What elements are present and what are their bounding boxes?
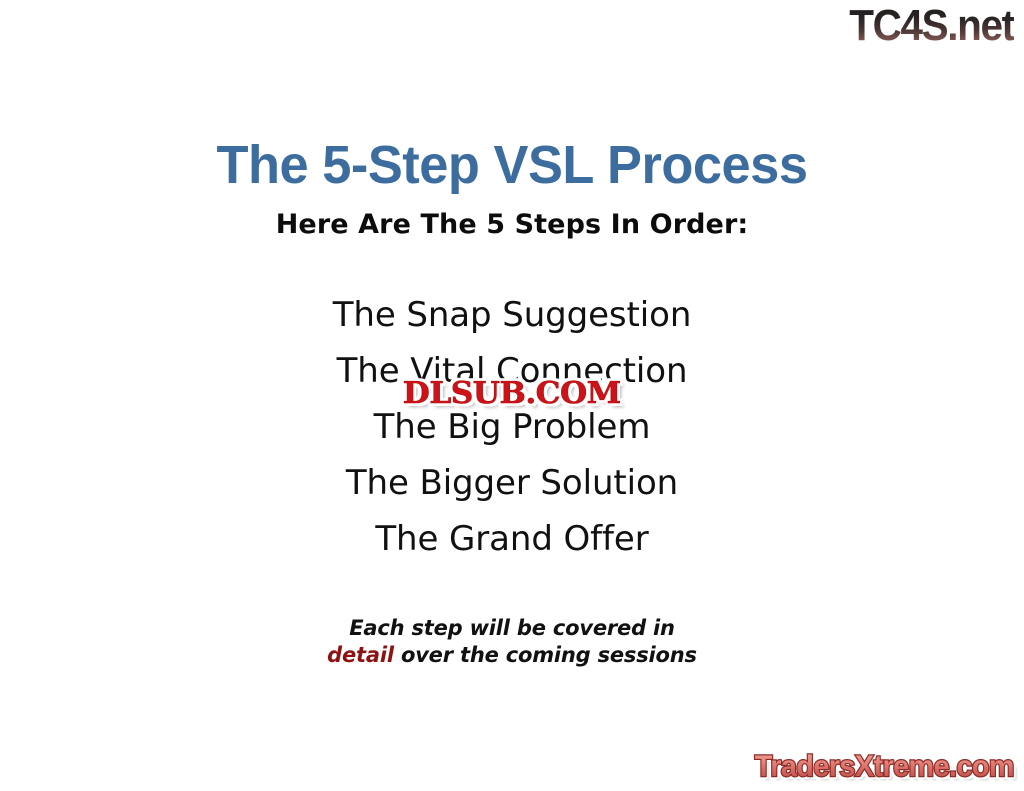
list-item: The Vital Connection xyxy=(0,343,1024,399)
page-subtitle: Here Are The 5 Steps In Order: xyxy=(0,208,1024,242)
list-item: The Bigger Solution xyxy=(0,455,1024,511)
list-item: The Grand Offer xyxy=(0,511,1024,567)
tradersxtreme-logo: TradersXtreme.com TradersXtreme.com xyxy=(755,749,1014,785)
tc4s-logo: TC4S.net xyxy=(850,2,1014,50)
footnote-accent-word: detail xyxy=(327,643,394,667)
steps-list: The Snap Suggestion The Vital Connection… xyxy=(0,287,1024,567)
page-title: The 5-Step VSL Process xyxy=(15,134,1008,196)
footnote-line-2: detail over the coming sessions xyxy=(0,642,1024,669)
list-item: The Snap Suggestion xyxy=(0,287,1024,343)
tradersxtreme-logo-fill: TradersXtreme.com xyxy=(755,750,1014,783)
footnote-line-2-rest: over the coming sessions xyxy=(394,643,697,667)
footnote: Each step will be covered in detail over… xyxy=(0,615,1024,669)
footnote-line-1: Each step will be covered in xyxy=(0,615,1024,642)
list-item: The Big Problem xyxy=(0,399,1024,455)
slide-canvas: TC4S.net The 5-Step VSL Process Here Are… xyxy=(0,0,1024,791)
